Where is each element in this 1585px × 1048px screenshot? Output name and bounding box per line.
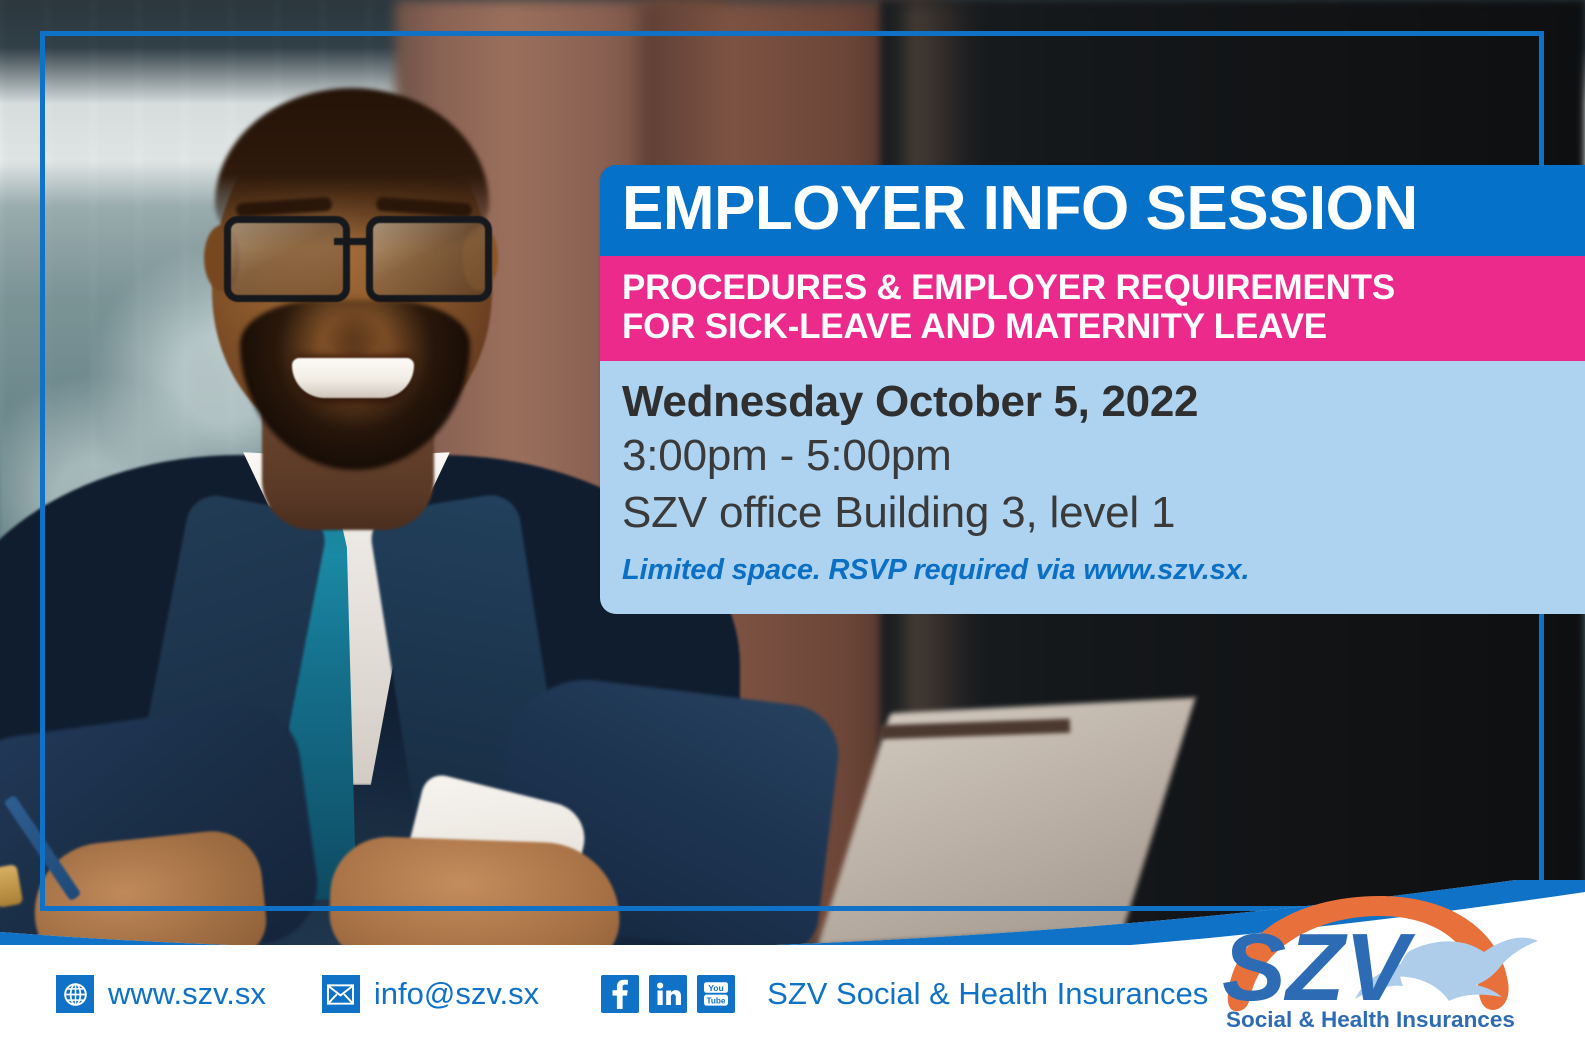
globe-icon — [56, 975, 94, 1013]
rsvp-note: Limited space. RSVP required via www.szv… — [622, 553, 1563, 588]
eyeglass-lens-left — [224, 216, 350, 302]
title-band: EMPLOYER INFO SESSION — [600, 165, 1585, 256]
subtitle-line-2: FOR SICK-LEAVE AND MATERNITY LEAVE — [622, 307, 1563, 346]
subtitle-line-1: PROCEDURES & EMPLOYER REQUIREMENTS — [622, 268, 1563, 307]
email-contact[interactable]: info@szv.sx — [322, 975, 539, 1013]
envelope-icon — [322, 975, 360, 1013]
linkedin-icon[interactable] — [649, 975, 687, 1013]
szv-logo: SZV Social & Health Insurances — [1212, 890, 1542, 1032]
social-handle-label: SZV Social & Health Insurances — [767, 976, 1208, 1012]
poster-canvas: EMPLOYER INFO SESSION PROCEDURES & EMPLO… — [0, 0, 1585, 1048]
website-contact[interactable]: www.szv.sx — [56, 975, 266, 1013]
smile — [292, 358, 414, 398]
svg-text:You: You — [708, 983, 724, 993]
eyeglasses — [222, 216, 484, 294]
social-links: You Tube SZV Social & Health Insurances — [601, 975, 1208, 1013]
email-address: info@szv.sx — [374, 976, 539, 1012]
youtube-icon[interactable]: You Tube — [697, 975, 735, 1013]
eyeglass-bridge — [334, 238, 370, 245]
logo-tagline: Social & Health Insurances — [1226, 1007, 1515, 1032]
event-time: 3:00pm - 5:00pm — [622, 428, 1563, 484]
event-date: Wednesday October 5, 2022 — [622, 375, 1563, 429]
logo-wordmark: SZV — [1222, 914, 1416, 1021]
poster-title: EMPLOYER INFO SESSION — [622, 177, 1563, 240]
event-location: SZV office Building 3, level 1 — [622, 485, 1563, 541]
event-info-panel: EMPLOYER INFO SESSION PROCEDURES & EMPLO… — [600, 165, 1585, 614]
website-url: www.szv.sx — [108, 976, 266, 1012]
contact-row: www.szv.sx info@szv.sx — [56, 975, 1208, 1013]
facebook-icon[interactable] — [601, 975, 639, 1013]
subtitle-band: PROCEDURES & EMPLOYER REQUIREMENTS FOR S… — [600, 256, 1585, 360]
details-band: Wednesday October 5, 2022 3:00pm - 5:00p… — [600, 361, 1585, 614]
eyeglass-lens-right — [366, 216, 492, 302]
svg-text:Tube: Tube — [707, 996, 726, 1005]
